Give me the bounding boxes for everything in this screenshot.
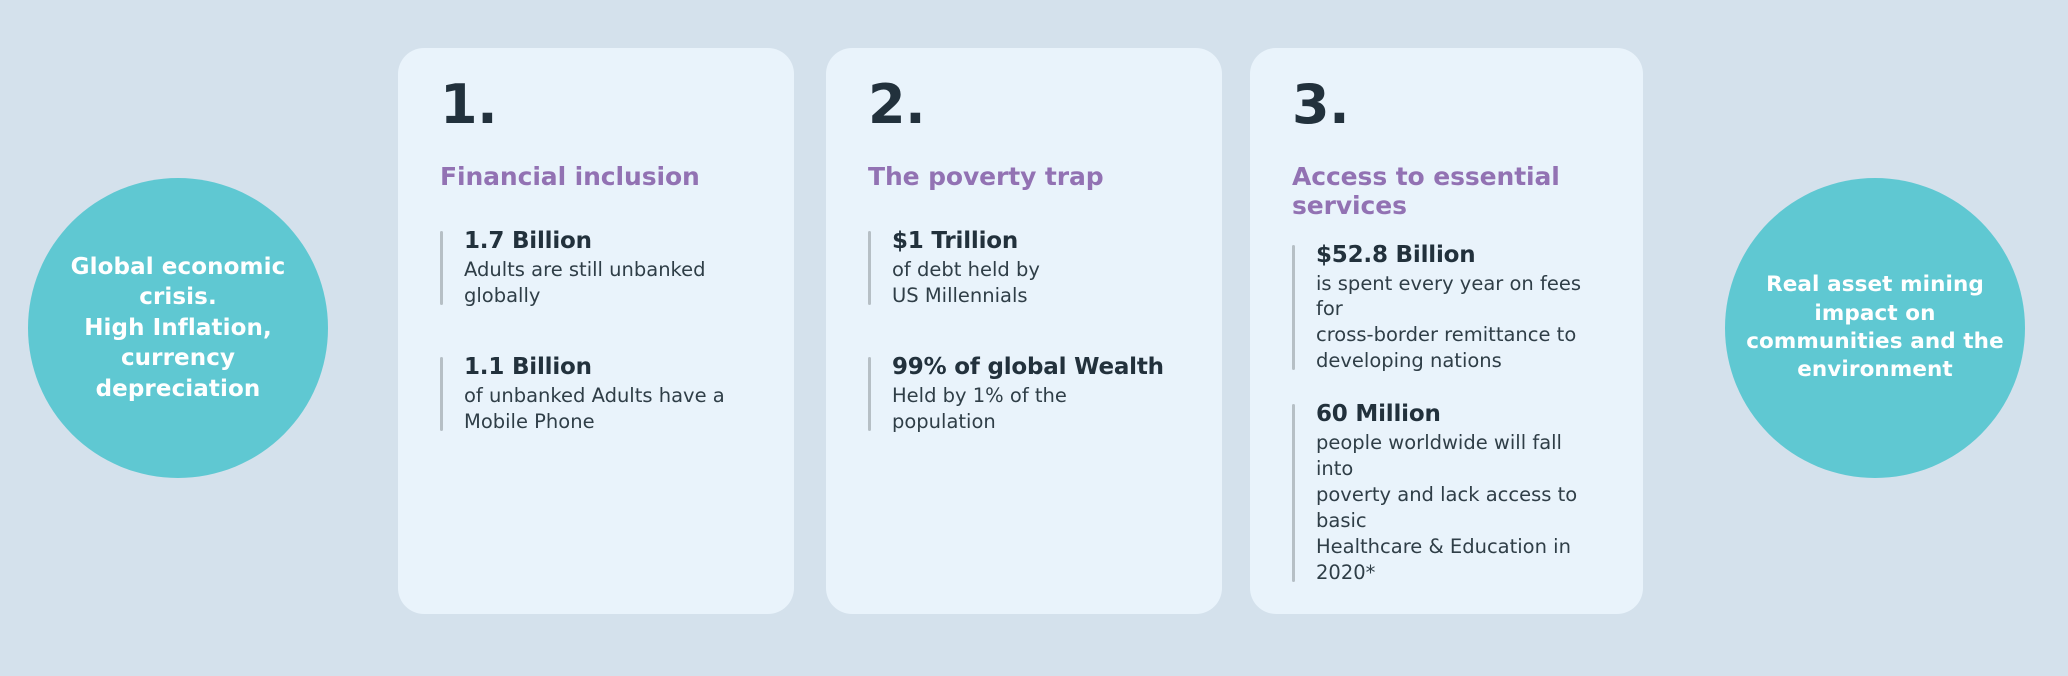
right-context-bubble: Real asset mining impact on communities …: [1725, 178, 2025, 478]
stat-item: $52.8 Billion is spent every year on fee…: [1292, 241, 1601, 375]
stat-value: 99% of global Wealth: [892, 353, 1180, 381]
card-2-subtitle: The poverty trap: [868, 162, 1180, 191]
stat-description: people worldwide will fall into poverty …: [1316, 430, 1601, 586]
stat-description: of debt held by US Millennials: [892, 257, 1180, 309]
stat-accent-bar: [868, 231, 871, 305]
infographic-canvas: Global economic crisis. High Inflation, …: [0, 0, 2068, 676]
card-poverty-trap: 2. The poverty trap $1 Trillion of debt …: [826, 48, 1222, 614]
card-1-subtitle: Financial inclusion: [440, 162, 752, 191]
card-3-subtitle: Access to essential services: [1292, 162, 1601, 221]
stat-item: 60 Million people worldwide will fall in…: [1292, 400, 1601, 586]
stat-description: Adults are still unbanked globally: [464, 257, 752, 309]
card-2-stats: $1 Trillion of debt held by US Millennia…: [868, 227, 1180, 435]
stat-value: 1.1 Billion: [464, 353, 752, 381]
stat-value: $52.8 Billion: [1316, 241, 1601, 269]
stat-item: $1 Trillion of debt held by US Millennia…: [868, 227, 1180, 309]
stat-item: 1.1 Billion of unbanked Adults have a Mo…: [440, 353, 752, 435]
card-financial-inclusion: 1. Financial inclusion 1.7 Billion Adult…: [398, 48, 794, 614]
left-bubble-text: Global economic crisis. High Inflation, …: [53, 252, 303, 404]
stat-accent-bar: [868, 357, 871, 431]
card-1-stats: 1.7 Billion Adults are still unbanked gl…: [440, 227, 752, 435]
stat-description: Held by 1% of the population: [892, 383, 1180, 435]
card-access-essential-services: 3. Access to essential services $52.8 Bi…: [1250, 48, 1643, 614]
left-context-bubble: Global economic crisis. High Inflation, …: [28, 178, 328, 478]
stat-value: 1.7 Billion: [464, 227, 752, 255]
stat-accent-bar: [1292, 245, 1295, 371]
card-3-number: 3.: [1292, 78, 1601, 132]
stat-description: is spent every year on fees for cross-bo…: [1316, 271, 1601, 375]
stat-value: $1 Trillion: [892, 227, 1180, 255]
stat-accent-bar: [1292, 404, 1295, 582]
stat-description: of unbanked Adults have a Mobile Phone: [464, 383, 752, 435]
stat-item: 1.7 Billion Adults are still unbanked gl…: [440, 227, 752, 309]
card-2-number: 2.: [868, 78, 1180, 132]
stat-accent-bar: [440, 231, 443, 305]
right-bubble-text: Real asset mining impact on communities …: [1744, 271, 2006, 385]
stat-accent-bar: [440, 357, 443, 431]
stat-value: 60 Million: [1316, 400, 1601, 428]
stat-item: 99% of global Wealth Held by 1% of the p…: [868, 353, 1180, 435]
card-1-number: 1.: [440, 78, 752, 132]
card-3-stats: $52.8 Billion is spent every year on fee…: [1292, 241, 1601, 586]
